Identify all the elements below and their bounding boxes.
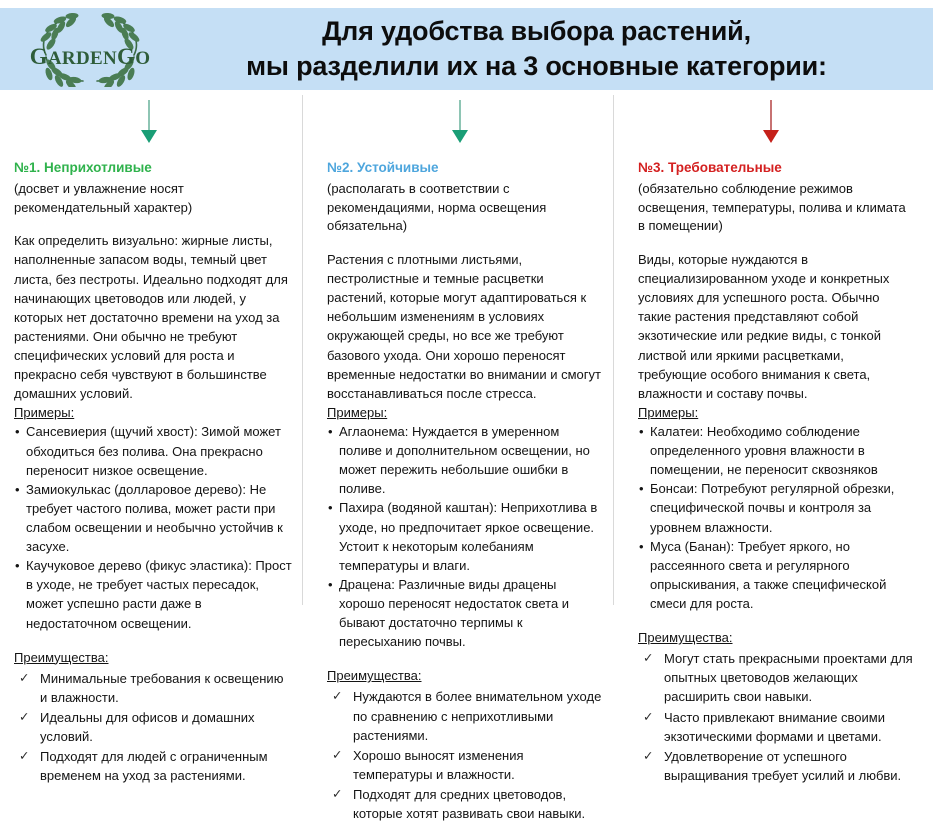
list-item: Бонсаи: Потребуют регулярной обрезки, сп… <box>638 479 915 536</box>
page-header: GARDENGO Для удобства выбора растений, м… <box>0 8 933 90</box>
logo-wordmark: GARDENGO <box>0 44 180 70</box>
category-column-2: №2. Устойчивые (располагать в соответств… <box>311 160 622 824</box>
list-item: Сансевиерия (щучий хвост): Зимой может о… <box>14 422 293 479</box>
arrow-shaft <box>770 100 772 134</box>
list-item: Нуждаются в более внимательном уходе по … <box>327 687 604 744</box>
category-1-subtitle: (досвет и увлажнение носят рекомендатель… <box>14 180 293 217</box>
arrow-shaft <box>148 100 150 134</box>
list-item: Калатеи: Необходимо соблюдение определен… <box>638 422 915 479</box>
category-3-description: Виды, которые нуждаются в специализирова… <box>638 250 915 403</box>
category-2-examples-label: Примеры: <box>327 403 604 422</box>
list-item: Часто привлекают внимание своими экзотич… <box>638 708 915 746</box>
category-1-description: Как определить визуально: жирные листы, … <box>14 231 293 403</box>
category-columns: №1. Неприхотливые (досвет и увлажнение н… <box>0 160 933 824</box>
arrow-head <box>141 130 157 143</box>
list-item: Подходят для людей с ограниченным времен… <box>14 747 293 785</box>
arrow-down-category-1-icon <box>136 100 162 146</box>
list-item: Аглаонема: Нуждается в умеренном поливе … <box>327 422 604 498</box>
list-item: Подходят для средних цветоводов, которые… <box>327 785 604 823</box>
arrow-shaft <box>459 100 461 134</box>
category-1-benefits-list: Минимальные требования к освещению и вла… <box>14 669 293 786</box>
category-3-title: №3. Требовательные <box>638 160 915 177</box>
category-3-benefits-label: Преимущества: <box>638 628 915 647</box>
category-2-subtitle: (располагать в соответствии с рекомендац… <box>327 180 604 236</box>
logo: GARDENGO <box>0 8 180 90</box>
list-item: Каучуковое дерево (фикус эластика): Прос… <box>14 556 293 632</box>
category-2-title: №2. Устойчивые <box>327 160 604 177</box>
list-item: Пахира (водяной каштан): Неприхотлива в … <box>327 498 604 574</box>
list-item: Удовлетворение от успешного выращивания … <box>638 747 915 785</box>
category-1-examples-label: Примеры: <box>14 403 293 422</box>
category-1-benefits-label: Преимущества: <box>14 648 293 667</box>
category-column-1: №1. Неприхотливые (досвет и увлажнение н… <box>0 160 311 824</box>
arrow-head <box>763 130 779 143</box>
category-3-examples-list: Калатеи: Необходимо соблюдение определен… <box>638 422 915 613</box>
page-title-line-1: Для удобства выбора растений, <box>180 14 893 49</box>
category-3-benefits-list: Могут стать прекрасными проектами для оп… <box>638 649 915 785</box>
list-item: Минимальные требования к освещению и вла… <box>14 669 293 707</box>
list-item: Замиокулькас (долларовое дерево): Не тре… <box>14 480 293 556</box>
arrow-head <box>452 130 468 143</box>
category-3-subtitle: (обязательно соблюдение режимов освещени… <box>638 180 915 236</box>
category-2-benefits-label: Преимущества: <box>327 666 604 685</box>
category-2-benefits-list: Нуждаются в более внимательном уходе по … <box>327 687 604 823</box>
category-1-examples-list: Сансевиерия (щучий хвост): Зимой может о… <box>14 422 293 632</box>
list-item: Драцена: Различные виды драцены хорошо п… <box>327 575 604 651</box>
list-item: Идеальны для офисов и домашних условий. <box>14 708 293 746</box>
page-title: Для удобства выбора растений, мы раздели… <box>180 14 933 83</box>
list-item: Могут стать прекрасными проектами для оп… <box>638 649 915 706</box>
category-3-examples-label: Примеры: <box>638 403 915 422</box>
category-2-description: Растения с плотными листьями, пестролист… <box>327 250 604 403</box>
arrow-row <box>0 100 933 146</box>
list-item: Муса (Банан): Требует яркого, но рассеян… <box>638 537 915 613</box>
category-2-examples-list: Аглаонема: Нуждается в умеренном поливе … <box>327 422 604 651</box>
category-column-3: №3. Требовательные (обязательно соблюден… <box>622 160 933 824</box>
category-1-title: №1. Неприхотливые <box>14 160 293 177</box>
arrow-down-category-2-icon <box>447 100 473 146</box>
arrow-down-category-3-icon <box>758 100 784 146</box>
list-item: Хорошо выносят изменения температуры и в… <box>327 746 604 784</box>
page-title-line-2: мы разделили их на 3 основные категории: <box>180 49 893 84</box>
